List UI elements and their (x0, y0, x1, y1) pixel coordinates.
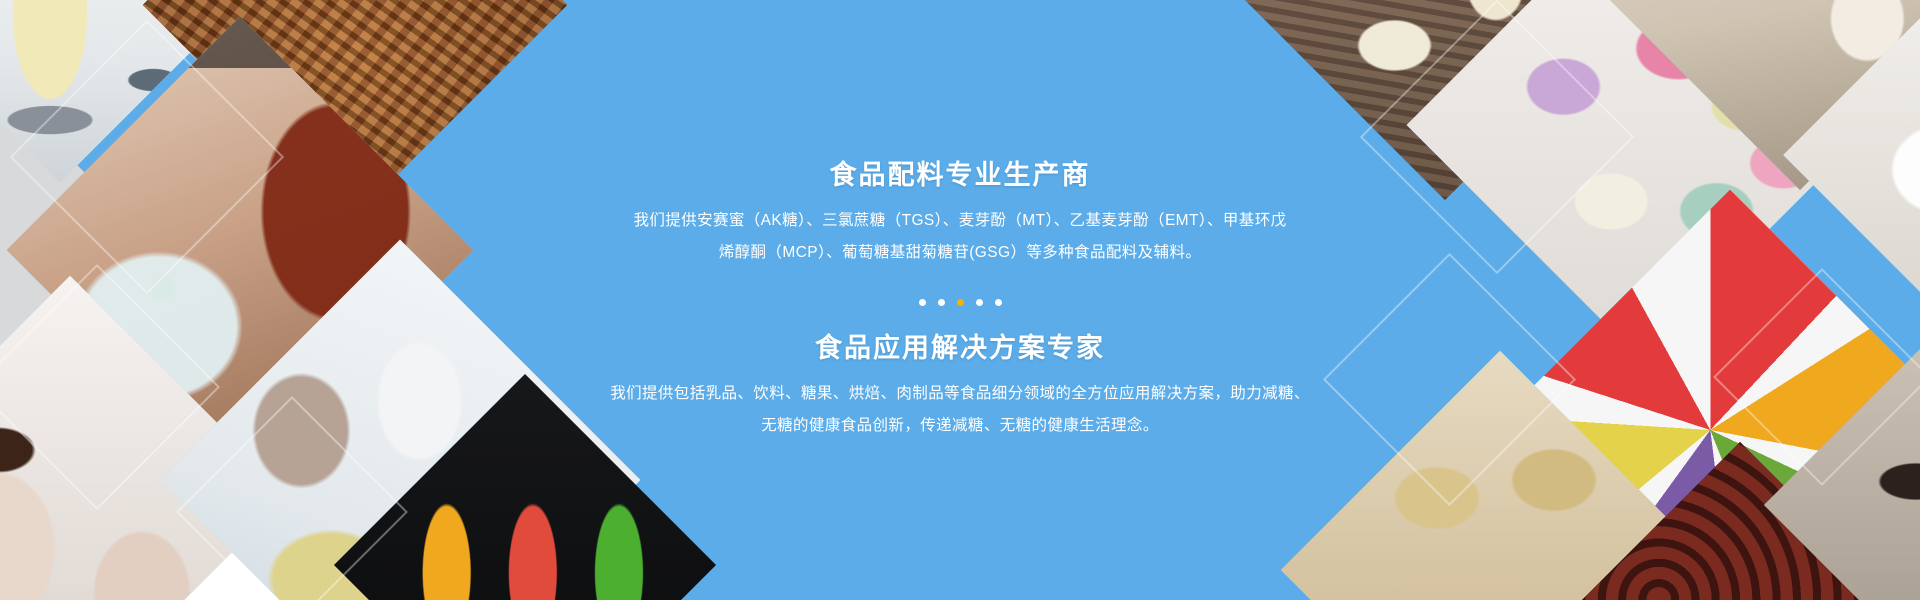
mooncake-pastries-image (1281, 351, 1719, 600)
paragraph-producer: 我们提供安赛蜜（AK糖）、三氯蔗糖（TGS）、麦芽酚（MT）、乙基麦芽酚（EMT… (633, 205, 1286, 269)
white-wedge-right (1793, 393, 1920, 600)
white-wedge-topleft (0, 0, 139, 99)
outline-diamond-right-top (1360, 0, 1634, 274)
section-solutions: 食品应用解决方案专家 我们提供包括乳品、饮料、糖果、烘焙、肉制品等食品细分领域的… (610, 332, 1310, 442)
tile-macarons-in-bowl (1407, 0, 1874, 358)
tile-lemon-drink-glass (0, 0, 223, 183)
tile-bubble-tea-milkshakes (0, 276, 289, 600)
coffee-cappuccino-cup-image (1595, 0, 1920, 190)
tile-candied-nuts-snack (1542, 442, 1920, 600)
tile-coffee-cappuccino-cup (1595, 0, 1920, 190)
banner-content: 食品配料专业生产商 我们提供安赛蜜（AK糖）、三氯蔗糖（TGS）、麦芽酚（MT）… (580, 0, 1340, 600)
bubble-tea-milkshakes-image (0, 276, 289, 600)
dot-separator (919, 299, 1002, 306)
tile-rainbow-lollipop-candies (1490, 190, 1920, 600)
headline-producer: 食品配料专业生产商 (829, 159, 1090, 191)
separator-dot-5 (995, 299, 1002, 306)
macarons-in-bowl-image (1407, 0, 1874, 358)
iced-tea-drinks-image (7, 17, 474, 484)
paragraph-solutions-line-2: 无糖的健康食品创新，传递减糖、无糖的健康生活理念。 (761, 417, 1159, 434)
candied-nuts-snack-image (1542, 442, 1920, 600)
headline-solutions: 食品应用解决方案专家 (815, 332, 1105, 364)
outline-diamond-right-bottom (1713, 268, 1920, 486)
dairy-spread-image (160, 240, 641, 600)
separator-dot-4 (976, 299, 983, 306)
paragraph-solutions: 我们提供包括乳品、饮料、糖果、烘焙、肉制品等食品细分领域的全方位应用解决方案，助… (610, 378, 1310, 442)
outline-diamond-left-bottom (0, 264, 220, 510)
tile-dairy-spread (160, 240, 641, 600)
tile-iced-tea-drinks (7, 17, 474, 484)
milk-pitcher-image (1783, 0, 1920, 332)
paragraph-producer-line-2: 烯醇酮（MCP）、葡萄糖基甜菊糖苷(GSG）等多种食品配料及辅料。 (719, 244, 1202, 261)
lemon-drink-glass-image (0, 0, 223, 183)
tile-dried-dates-fruit (1764, 314, 1920, 600)
dried-dates-fruit-image (1764, 314, 1920, 600)
tile-braised-meat-dish (143, 0, 567, 217)
promo-banner: 食品配料专业生产商 我们提供安赛蜜（AK糖）、三氯蔗糖（TGS）、麦芽酚（MT）… (0, 0, 1920, 600)
separator-dot-accent (957, 299, 964, 306)
outline-diamond-left-top (10, 20, 284, 294)
paragraph-producer-line-1: 我们提供安赛蜜（AK糖）、三氯蔗糖（TGS）、麦芽酚（MT）、乙基麦芽酚（EMT… (633, 212, 1286, 229)
braised-meat-dish-image (143, 0, 567, 217)
separator-dot-1 (919, 299, 926, 306)
separator-dot-2 (938, 299, 945, 306)
tile-mooncake-pastries (1281, 351, 1719, 600)
grey-wedge-topleft (76, 0, 444, 124)
white-wedge-bottom (148, 428, 502, 600)
rainbow-lollipop-candies-image (1490, 190, 1920, 600)
section-producer: 食品配料专业生产商 我们提供安赛蜜（AK糖）、三氯蔗糖（TGS）、麦芽酚（MT）… (633, 159, 1286, 269)
tile-milk-pitcher (1783, 0, 1920, 332)
paragraph-solutions-line-1: 我们提供包括乳品、饮料、糖果、烘焙、肉制品等食品细分领域的全方位应用解决方案，助… (610, 385, 1310, 402)
grey-wedge-left (0, 88, 212, 512)
outline-diamond-right-mid (1323, 253, 1576, 506)
outline-diamond-left-lower (176, 396, 408, 600)
